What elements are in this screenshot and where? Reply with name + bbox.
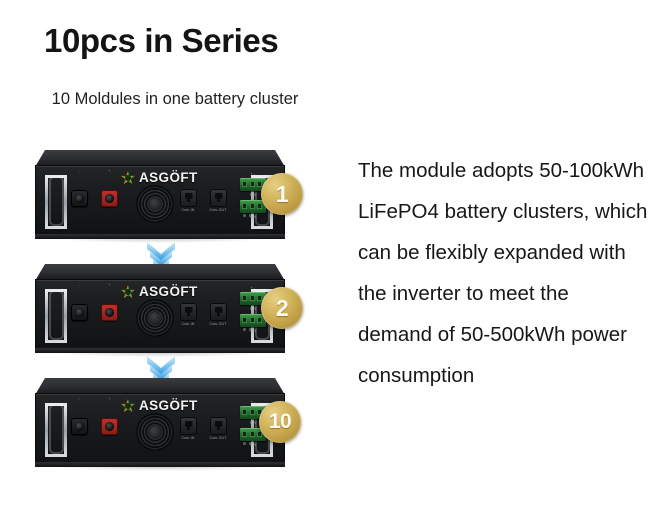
terminal-negative-label: - — [71, 283, 88, 287]
com-in-label: Com-IN — [173, 436, 203, 440]
fan-grille-icon — [137, 186, 173, 222]
status-leds — [243, 214, 251, 217]
terminal-positive — [101, 190, 118, 207]
com-out-label: Com-OUT — [203, 208, 233, 212]
module-chassis: ASGÖFT - + Com-IN Com-OUT + - P/N — [33, 264, 285, 352]
module-chassis: ASGÖFT - + Com-IN Com-OUT + - P/N — [33, 378, 285, 466]
terminal-block-bottom-label: P/N — [236, 329, 270, 333]
asgoft-emblem-icon — [121, 171, 135, 185]
handle-left — [45, 403, 67, 457]
terminal-positive — [101, 418, 118, 435]
terminal-block-bottom-label: P/N — [236, 443, 270, 447]
terminal-negative-label: - — [71, 397, 88, 401]
status-leds — [243, 442, 251, 445]
terminal-positive-label: + — [101, 169, 118, 173]
handle-left — [45, 289, 67, 343]
battery-module-2: ASGÖFT - + Com-IN Com-OUT + - P/N — [33, 264, 303, 356]
terminal-positive-label: + — [101, 283, 118, 287]
com-out-port — [210, 417, 227, 435]
terminal-negative — [71, 190, 88, 207]
chassis-bottom-lip — [35, 234, 285, 239]
brand-name: ASGÖFT — [139, 171, 198, 185]
brand-logo: ASGÖFT — [121, 171, 198, 185]
com-in-port — [180, 417, 197, 435]
asgoft-emblem-icon — [121, 285, 135, 299]
terminal-negative — [71, 418, 88, 435]
module-number-badge: 10 — [259, 401, 301, 443]
com-in-label: Com-IN — [173, 208, 203, 212]
com-out-port — [210, 189, 227, 207]
com-in-label: Com-IN — [173, 322, 203, 326]
battery-module-1: ASGÖFT - + Com-IN Com-OUT + - P/N — [33, 150, 303, 242]
module-chassis: ASGÖFT - + Com-IN Com-OUT + - P/N — [33, 150, 285, 238]
brand-name: ASGÖFT — [139, 399, 198, 413]
terminal-negative — [71, 304, 88, 321]
battery-module-10: ASGÖFT - + Com-IN Com-OUT + - P/N — [33, 378, 303, 470]
description-paragraph: The module adopts 50-100kWh LiFePO4 batt… — [358, 150, 648, 396]
infographic-canvas: 10pcs in Series 10 Moldules in one batte… — [0, 0, 650, 511]
terminal-block-top-label: + - — [236, 400, 270, 404]
module-number-badge: 2 — [261, 287, 303, 329]
brand-logo: ASGÖFT — [121, 399, 198, 413]
com-out-port — [210, 303, 227, 321]
terminal-block-bottom-label: P/N — [236, 215, 270, 219]
fan-grille-icon — [137, 414, 173, 450]
com-out-label: Com-OUT — [203, 322, 233, 326]
handle-left — [45, 175, 67, 229]
page-title: 10pcs in Series — [44, 22, 278, 60]
terminal-block-top-label: + - — [236, 172, 270, 176]
asgoft-emblem-icon — [121, 399, 135, 413]
brand-logo: ASGÖFT — [121, 285, 198, 299]
terminal-block-top-label: + - — [236, 286, 270, 290]
brand-name: ASGÖFT — [139, 285, 198, 299]
status-leds — [243, 328, 251, 331]
terminal-negative-label: - — [71, 169, 88, 173]
battery-module-stack: ASGÖFT - + Com-IN Com-OUT + - P/N — [33, 150, 333, 480]
fan-grille-icon — [137, 300, 173, 336]
com-in-port — [180, 303, 197, 321]
terminal-positive-label: + — [101, 397, 118, 401]
terminal-positive — [101, 304, 118, 321]
com-in-port — [180, 189, 197, 207]
chassis-bottom-lip — [35, 462, 285, 467]
com-out-label: Com-OUT — [203, 436, 233, 440]
module-number-badge: 1 — [261, 173, 303, 215]
chassis-bottom-lip — [35, 348, 285, 353]
page-subtitle: 10 Moldules in one battery cluster — [50, 88, 300, 111]
